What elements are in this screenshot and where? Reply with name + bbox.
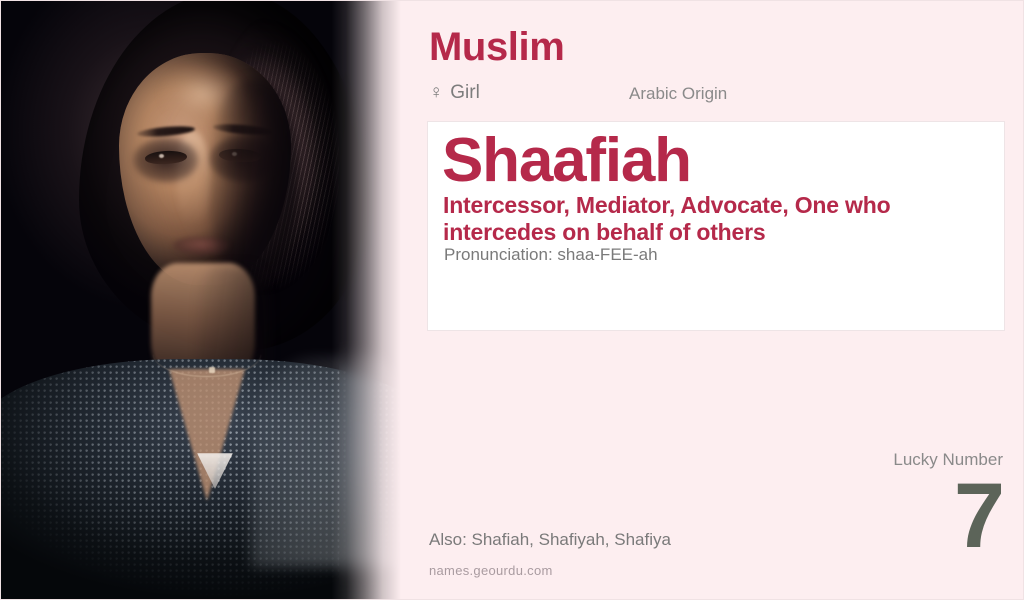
name-heading: Shaafiah bbox=[442, 128, 691, 193]
photo-eye-catchlight-left bbox=[159, 154, 164, 158]
name-detail-card: Shaafiah Intercessor, Mediator, Advocate… bbox=[427, 121, 1005, 331]
content-panel: Muslim ♀ Girl Arabic Origin Shaafiah Int… bbox=[401, 1, 1024, 600]
portrait-photo bbox=[1, 1, 401, 600]
site-url: names.geourdu.com bbox=[429, 564, 553, 577]
name-meaning: Intercessor, Mediator, Advocate, One who… bbox=[443, 192, 988, 246]
name-pronunciation: Pronunciation: shaa-FEE-ah bbox=[444, 245, 658, 265]
origin-label: Arabic Origin bbox=[629, 85, 727, 102]
photo-vneck-opening bbox=[169, 369, 245, 501]
lucky-number-value: 7 bbox=[763, 474, 1003, 559]
photo-necklace-pendant bbox=[209, 367, 215, 373]
photo-face-shadow bbox=[207, 79, 299, 285]
photo-right-fade bbox=[331, 1, 401, 600]
gender-label: Girl bbox=[450, 83, 480, 102]
religion-title: Muslim bbox=[429, 27, 564, 67]
photo-necklace-chain bbox=[153, 331, 261, 377]
alternate-spellings: Also: Shafiah, Shafiyah, Shafiya bbox=[429, 531, 671, 548]
lucky-number-block: Lucky Number 7 bbox=[763, 451, 1003, 559]
gender-group: ♀ Girl bbox=[429, 83, 480, 102]
name-info-card: Muslim ♀ Girl Arabic Origin Shaafiah Int… bbox=[0, 0, 1024, 600]
venus-female-icon: ♀ bbox=[429, 83, 443, 102]
meta-row: ♀ Girl Arabic Origin bbox=[429, 83, 989, 107]
